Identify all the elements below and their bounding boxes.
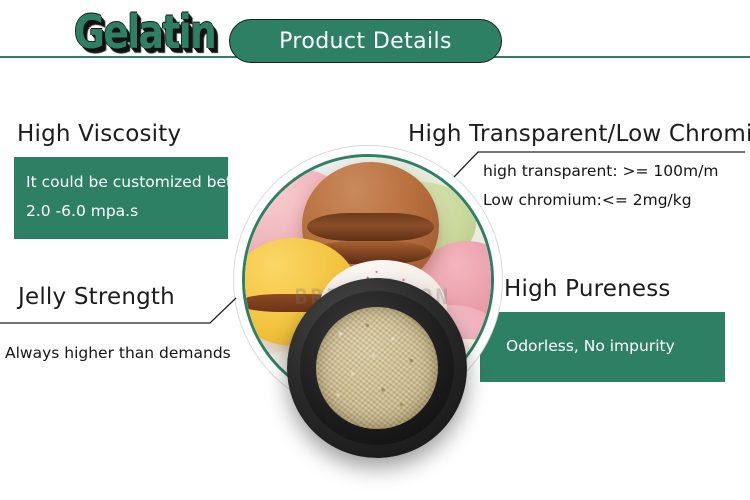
feature-line: Odorless, No impurity: [506, 337, 675, 355]
gelatin-granules: [316, 307, 438, 429]
brand-title: Gelatin: [74, 9, 215, 55]
feature-box-high-viscosity: It could be customized between 2.0 -6.0 …: [14, 157, 228, 239]
feature-title-high-pureness: High Pureness: [504, 276, 671, 302]
feature-box-high-pureness: Odorless, No impurity: [480, 312, 725, 382]
feature-title-high-viscosity: High Viscosity: [17, 121, 181, 147]
feature-line: high transparent: >= 100m/m: [483, 162, 718, 180]
feature-title-high-transparent-low-chromium: High Transparent/Low Chromium: [408, 121, 750, 147]
connector-line-jelly-strength: [0, 292, 250, 332]
gelatin-bowl: [287, 278, 467, 458]
product-details-banner: Gelatin Product Details High Viscosity I…: [0, 0, 750, 500]
feature-line: Always higher than demands: [5, 344, 231, 362]
feature-line: Low chromium:<= 2mg/kg: [483, 191, 692, 209]
product-details-label: Product Details: [230, 20, 501, 62]
product-details-banner-pill: Product Details: [229, 19, 502, 63]
feature-line: 2.0 -6.0 mpa.s: [26, 202, 138, 220]
